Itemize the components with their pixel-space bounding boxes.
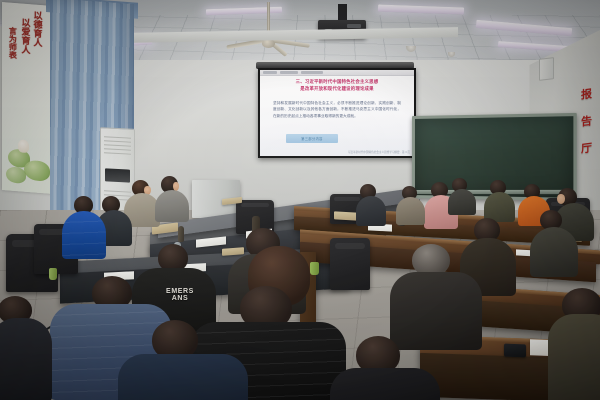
calligraphy-poster: 以德育人 以爱育人 言为师表 <box>2 2 56 194</box>
torso <box>155 190 189 222</box>
torso <box>548 314 600 400</box>
ac-vent <box>104 140 131 142</box>
toolbar-chip <box>280 71 298 74</box>
lotus-leaf <box>6 166 26 184</box>
desk-flag <box>186 172 198 188</box>
wall-char-1: 报 <box>581 85 592 102</box>
torso <box>448 189 476 215</box>
presentation-slide: 三、习近平新时代中国特色社会主义思想 是改革开放和现代化建设的理论成果 坚持和发… <box>260 70 414 156</box>
ac-display-panel[interactable] <box>105 168 130 182</box>
poster-char: 以德育人 <box>32 10 41 47</box>
toolbar-chip <box>263 71 277 74</box>
office-chair-center-aisle[interactable] <box>330 238 370 290</box>
jacket-print-text: EMERS ANS <box>148 288 212 303</box>
face <box>557 194 565 204</box>
projector-mount <box>338 4 347 20</box>
slide-body-text: 坚持和发展新时代中国特色社会主义，必须不断推进理论创新、实践创新、制度创新、文化… <box>273 100 401 119</box>
lotus-flower <box>18 139 29 153</box>
notebook <box>334 211 358 220</box>
ac-vent <box>104 144 131 146</box>
poster-column-3: 言为师表 <box>8 26 16 59</box>
projector-vent <box>347 24 361 28</box>
slide-toolbar <box>260 70 414 76</box>
slide-title: 三、习近平新时代中国特色社会主义思想 是改革开放和现代化建设的理论成果 <box>266 79 408 93</box>
ac-vent <box>104 148 131 150</box>
poster-char: 言为师表 <box>8 26 16 59</box>
poster-column-2: 以爱育人 <box>20 17 29 54</box>
smartphone-on-desk[interactable] <box>504 344 526 358</box>
thermos-bottle <box>178 226 184 242</box>
jacket-print-line-2: ANS <box>172 295 189 302</box>
torso <box>356 196 386 226</box>
poster-column-1: 以德育人 <box>32 10 41 47</box>
puffer-quilting <box>62 211 106 259</box>
torso <box>0 318 52 400</box>
jacket-print-line-1: EMERS <box>166 288 194 295</box>
slide-highlight-button: 第三部分内容 <box>286 134 338 143</box>
torso <box>330 368 440 400</box>
wall-mounted-device[interactable] <box>539 57 554 81</box>
slide-footer: 习近平新时代中国特色社会主义思想学习纲要 · 第 3 页 <box>348 150 410 154</box>
green-cup <box>49 268 57 280</box>
green-cup <box>310 262 319 275</box>
torso <box>530 227 578 277</box>
wall-char-2: 告 <box>581 112 592 129</box>
torso <box>396 197 425 225</box>
lotus-illustration <box>4 130 56 192</box>
meeting-room-photo: 以德育人 以爱育人 言为师表 <box>0 0 600 400</box>
lotus-leaf <box>24 160 50 182</box>
torso <box>118 354 248 400</box>
projection-screen: 三、习近平新时代中国特色社会主义思想 是改革开放和现代化建设的理论成果 坚持和发… <box>258 68 416 158</box>
ac-vent <box>104 152 131 154</box>
ac-vent <box>104 136 131 138</box>
wall-char-3: 厅 <box>581 139 592 156</box>
ac-vent <box>104 190 131 192</box>
torso <box>62 211 106 259</box>
torso <box>390 272 482 350</box>
toolbar-chip <box>301 71 323 74</box>
wall-character-sign: 报 告 厅 <box>581 86 592 156</box>
poster-char: 以爱育人 <box>20 17 29 54</box>
